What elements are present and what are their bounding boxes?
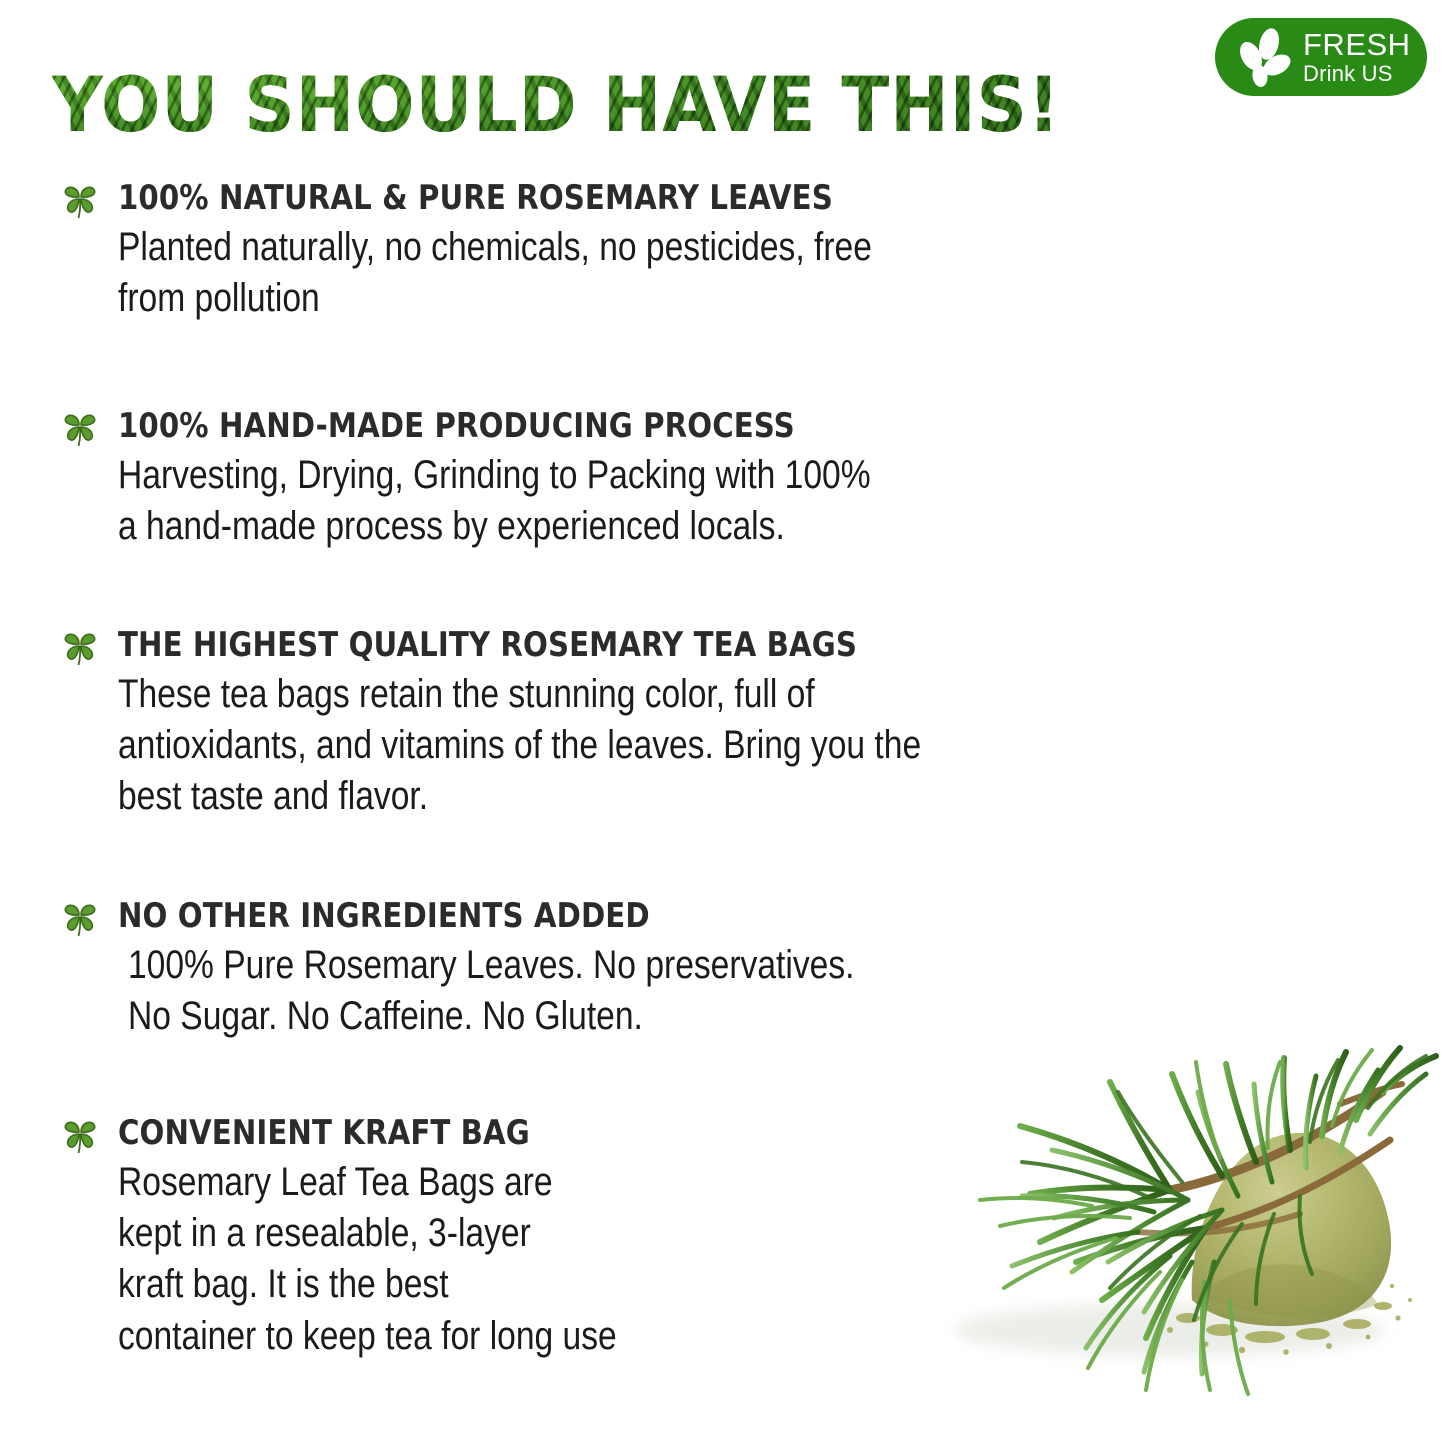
feature-heading: THE HIGHEST QUALITY ROSEMARY TEA BAGS [118,625,1259,665]
four-leaf-clover-icon [58,625,102,669]
rosemary-sprig-and-powder-photo [870,1000,1445,1445]
feature-body: Harvesting, Drying, Grinding to Packing … [118,450,1233,552]
four-leaf-clover-icon [58,406,102,450]
feature-heading: 100% NATURAL & PURE ROSEMARY LEAVES [118,178,1259,218]
page-title: YOU SHOULD HAVE THIS! [52,60,1061,149]
four-leaf-clover-icon [58,896,102,940]
feature-body: These tea bags retain the stunning color… [118,669,1233,823]
brand-logo: FRESH Drink US [1215,18,1427,96]
four-leaf-clover-icon [58,1113,102,1157]
feature-heading: 100% HAND-MADE PRODUCING PROCESS [118,406,1259,446]
feature-item-highest-quality: THE HIGHEST QUALITY ROSEMARY TEA BAGS Th… [0,625,1445,823]
leaf-cluster-icon [1227,20,1301,94]
logo-name-primary: FRESH [1303,29,1411,60]
feature-item-hand-made: 100% HAND-MADE PRODUCING PROCESS Harvest… [0,406,1445,552]
feature-body: Planted naturally, no chemicals, no pest… [118,222,1233,324]
logo-name-secondary: Drink US [1303,63,1411,85]
feature-heading: NO OTHER INGREDIENTS ADDED [118,896,1259,936]
feature-item-natural-pure: 100% NATURAL & PURE ROSEMARY LEAVES Plan… [0,178,1445,324]
four-leaf-clover-icon [58,178,102,222]
